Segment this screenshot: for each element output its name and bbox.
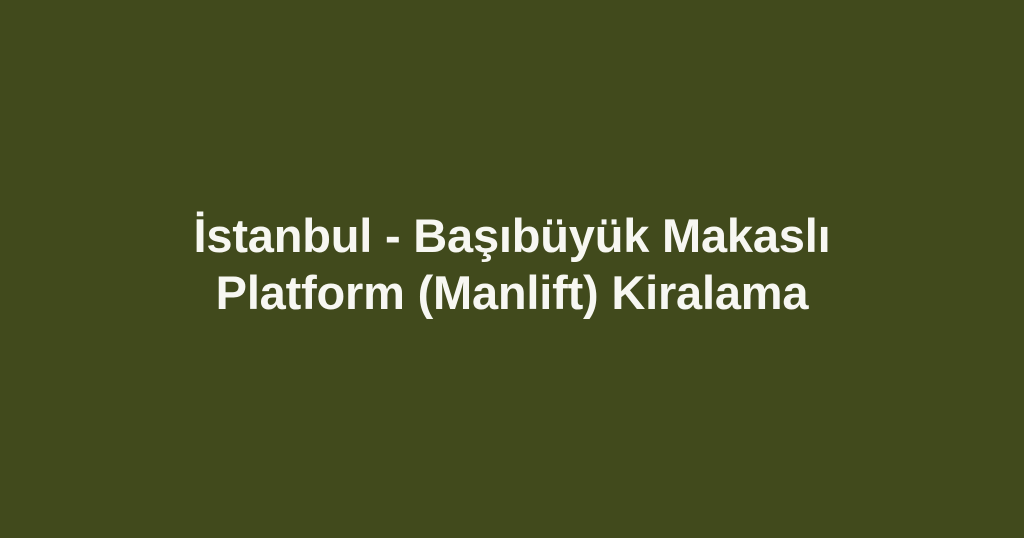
page-title: İstanbul - Başıbüyük Makaslı Platform (M… <box>162 207 862 321</box>
headline-block: İstanbul - Başıbüyük Makaslı Platform (M… <box>162 207 862 321</box>
banner-card: İstanbul - Başıbüyük Makaslı Platform (M… <box>0 0 1024 538</box>
